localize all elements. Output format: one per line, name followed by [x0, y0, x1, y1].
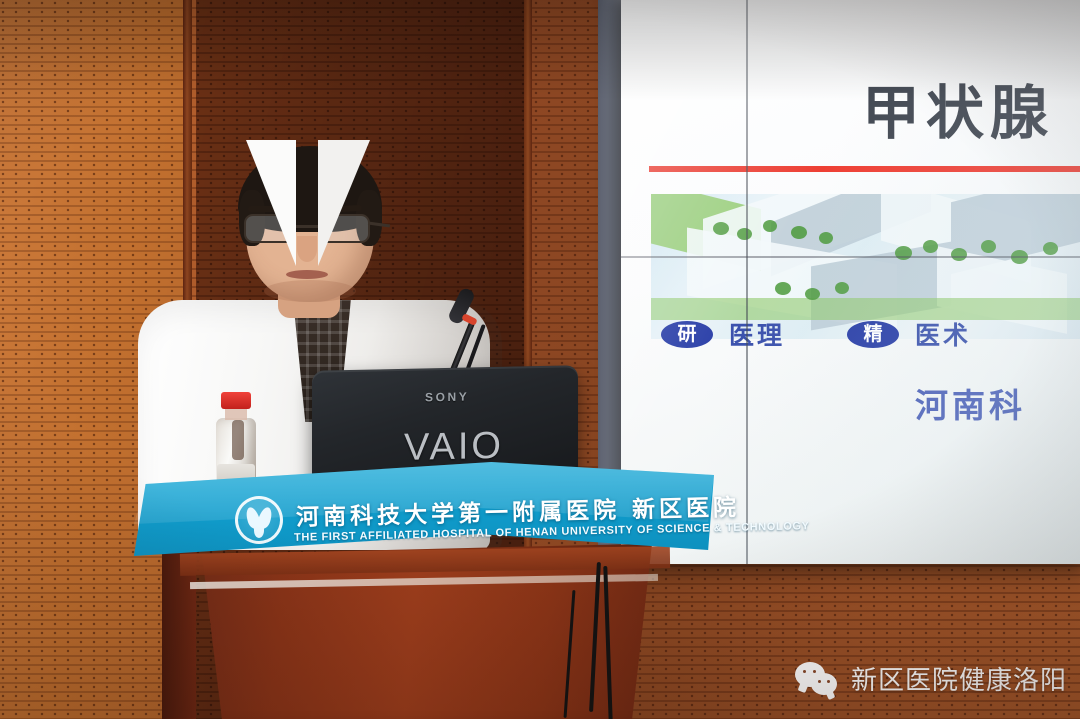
coat-lapel-left [246, 140, 296, 266]
wechat-watermark: 新区医院健康洛阳 [795, 660, 1067, 697]
laptop-brand-label: SONY [425, 389, 469, 404]
lectern: 河南科技大学第一附属医院 新区医院 THE FIRST AFFILIATED H… [128, 462, 714, 719]
wechat-bubble-small [811, 673, 837, 695]
badge-char-jing: 精 [847, 321, 899, 348]
slide-badge-row: 研 医理 精 医术 [661, 316, 1080, 352]
screen-seam-vertical-1 [746, 0, 748, 564]
hospital-emblem-icon [235, 496, 283, 544]
slide-title-rule [649, 166, 1080, 172]
bottle-cap [221, 392, 251, 409]
glasses-temple [368, 221, 390, 227]
nose [297, 236, 317, 262]
wechat-account-name: 新区医院健康洛阳 [851, 660, 1067, 697]
emblem-stem [254, 523, 264, 538]
slide-footer-text: 河南科 [915, 379, 1026, 427]
bottle-neck [225, 408, 247, 420]
mouth [286, 270, 328, 279]
wechat-icon [795, 662, 839, 696]
chin-shadow [264, 280, 356, 302]
badge-label-yishu: 医术 [915, 316, 971, 352]
glasses-bridge [296, 225, 318, 228]
screen-seam-horizontal-1 [621, 256, 1080, 258]
badge-label-yili: 医理 [729, 316, 785, 352]
coat-lapel-right [318, 140, 370, 266]
badge-char-yan: 研 [661, 321, 713, 348]
slide-title: 甲状腺 [862, 66, 1054, 150]
bottle-reflection [232, 420, 244, 460]
presentation-photo: 甲状腺 [0, 0, 1080, 719]
